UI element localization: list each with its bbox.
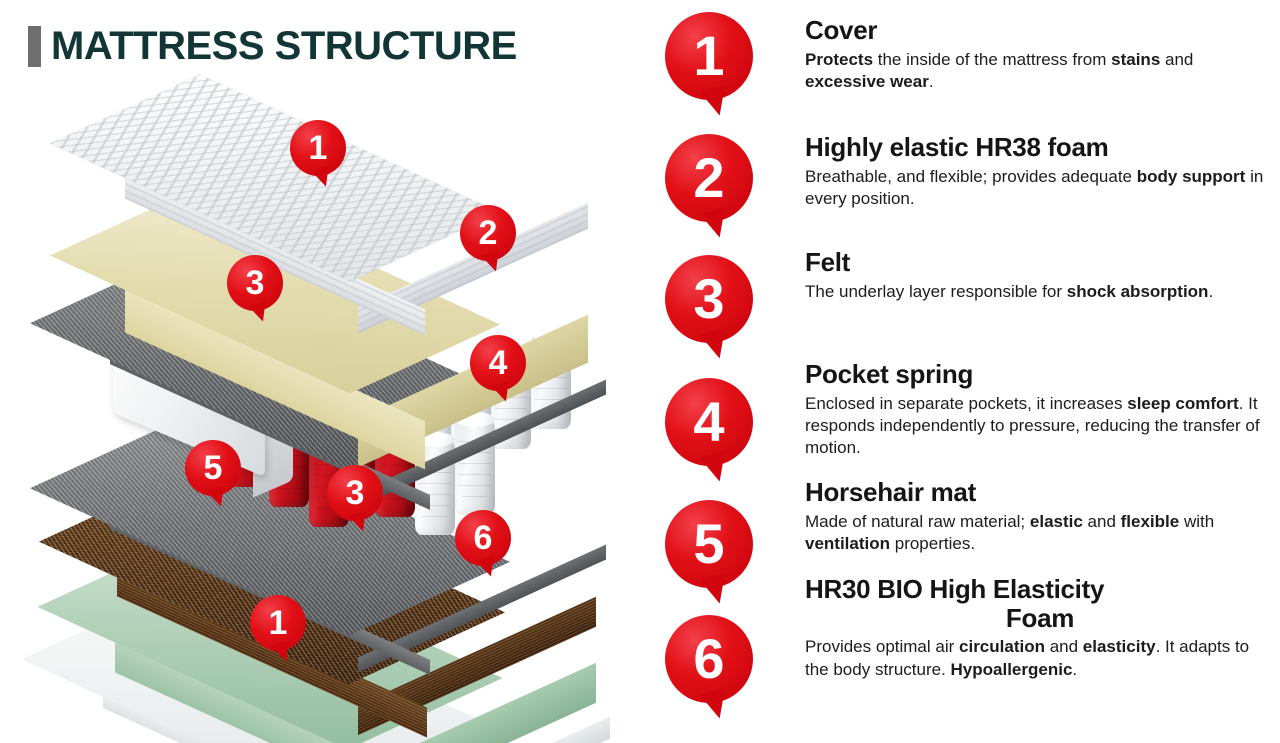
marker-felt-top[interactable]: 3: [227, 255, 283, 311]
list-item-hr38-foam: Highly elastic HR38 foam Breathable, and…: [805, 133, 1275, 210]
list-item-pocket-spring: Pocket spring Enclosed in separate pocke…: [805, 360, 1275, 460]
marker-hr30-number: 6: [455, 510, 511, 566]
marker-cover-top-number: 1: [290, 120, 346, 176]
infographic-page: MATTRESS STRUCTURE: [0, 0, 1280, 743]
entry-title-line2: Foam: [805, 604, 1275, 633]
entry-title: Horsehair mat: [805, 478, 1275, 507]
entry-title: Highly elastic HR38 foam: [805, 133, 1275, 162]
marker-felt-bottom[interactable]: 3: [327, 465, 383, 521]
marker-horsehair-mat[interactable]: 5: [185, 440, 241, 496]
entry-title: Cover: [805, 16, 1275, 45]
marker-hr38-foam[interactable]: 2: [460, 205, 516, 261]
entry-body: Made of natural raw material; elastic an…: [805, 511, 1275, 556]
list-marker-5-number: 5: [665, 500, 753, 588]
layer-description-list: 1 2 3 4 5 6 Cover Protects the inside of…: [655, 0, 1280, 743]
marker-hr38-number: 2: [460, 205, 516, 261]
list-marker-6-number: 6: [665, 615, 753, 703]
list-marker-4[interactable]: 4: [665, 378, 753, 466]
marker-felt-bottom-number: 3: [327, 465, 383, 521]
list-marker-1-number: 1: [665, 12, 753, 100]
list-marker-1[interactable]: 1: [665, 12, 753, 100]
title-accent-bar: [28, 26, 41, 67]
entry-title: Felt: [805, 248, 1275, 277]
list-marker-3-number: 3: [665, 255, 753, 343]
entry-title: HR30 BIO High Elasticity Foam: [805, 575, 1275, 632]
list-item-horsehair-mat: Horsehair mat Made of natural raw materi…: [805, 478, 1275, 555]
entry-body: Provides optimal air circulation and ela…: [805, 636, 1275, 681]
marker-base-number: 1: [250, 595, 306, 651]
marker-cover-top[interactable]: 1: [290, 120, 346, 176]
marker-pocket-spring[interactable]: 4: [470, 335, 526, 391]
marker-spring-number: 4: [470, 335, 526, 391]
list-marker-6[interactable]: 6: [665, 615, 753, 703]
page-title: MATTRESS STRUCTURE: [28, 26, 517, 67]
marker-hr30-foam[interactable]: 6: [455, 510, 511, 566]
marker-felt-top-number: 3: [227, 255, 283, 311]
marker-base-cover[interactable]: 1: [250, 595, 306, 651]
entry-body: The underlay layer responsible for shock…: [805, 281, 1275, 303]
list-marker-5[interactable]: 5: [665, 500, 753, 588]
entry-body: Protects the inside of the mattress from…: [805, 49, 1275, 94]
title-text: MATTRESS STRUCTURE: [51, 26, 517, 67]
list-item-felt: Felt The underlay layer responsible for …: [805, 248, 1275, 303]
list-marker-3[interactable]: 3: [665, 255, 753, 343]
list-item-hr30-foam: HR30 BIO High Elasticity Foam Provides o…: [805, 575, 1275, 681]
marker-horsehair-number: 5: [185, 440, 241, 496]
list-marker-4-number: 4: [665, 378, 753, 466]
entry-body: Enclosed in separate pockets, it increas…: [805, 393, 1275, 460]
entry-body: Breathable, and flexible; provides adequ…: [805, 166, 1275, 211]
entry-title-line1: HR30 BIO High Elasticity: [805, 574, 1104, 604]
list-item-cover: Cover Protects the inside of the mattres…: [805, 16, 1275, 93]
entry-title: Pocket spring: [805, 360, 1275, 389]
list-marker-2[interactable]: 2: [665, 134, 753, 222]
list-marker-2-number: 2: [665, 134, 753, 222]
mattress-illustration: 1 2 3 4 5 3 6 1: [55, 95, 645, 735]
